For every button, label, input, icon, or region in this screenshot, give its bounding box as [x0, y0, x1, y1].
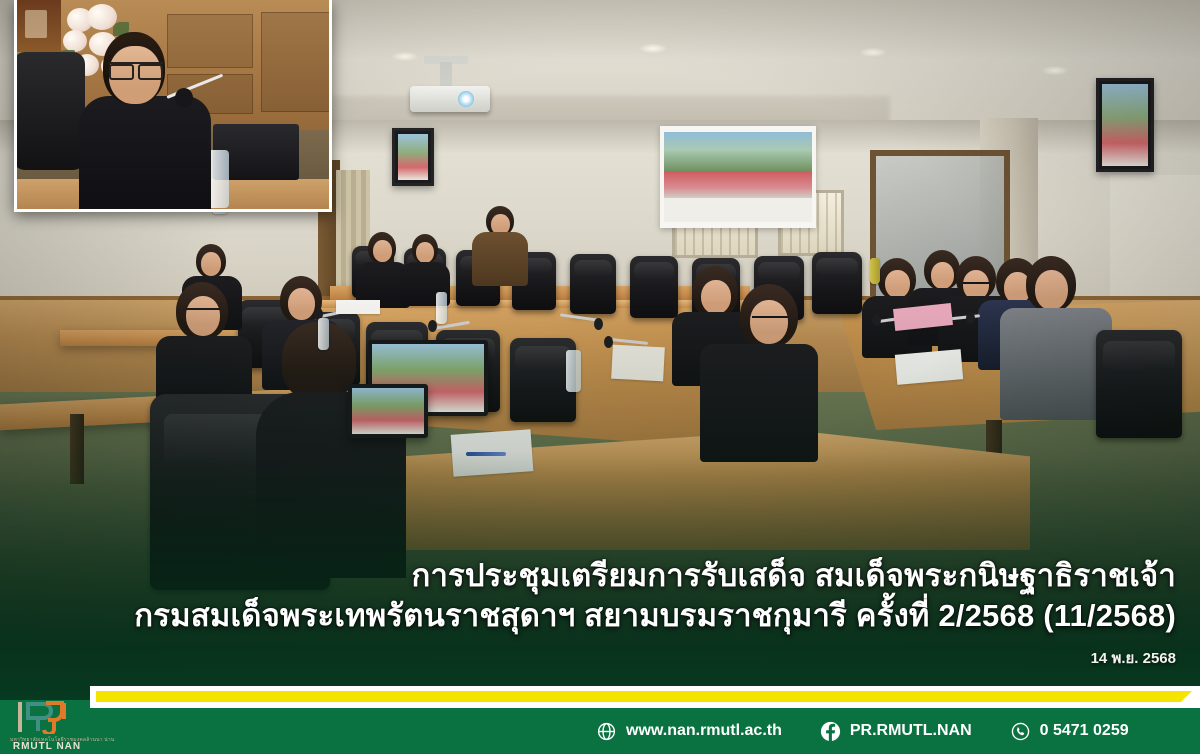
wall-panel — [167, 14, 253, 68]
title-block: การประชุมเตรียมการรับเสด็จ สมเด็จพระกนิษ… — [0, 556, 1176, 670]
inset-photo — [14, 0, 332, 212]
title-line-2: กรมสมเด็จพระเทพรัตนราชสุดาฯ สยามบรมราชกุ… — [0, 596, 1176, 636]
phone-icon — [1010, 721, 1031, 742]
rmutl-logo-mark — [16, 700, 74, 734]
title-line-1: การประชุมเตรียมการรับเสด็จ สมเด็จพระกนิษ… — [0, 556, 1176, 596]
wall-panel — [261, 12, 331, 112]
backdrop-banner — [17, 0, 61, 52]
footer-facebook[interactable]: PR.RMUTL.NAN — [820, 721, 972, 742]
accent-rule-yellow — [96, 691, 1192, 702]
rmutl-logo[interactable]: มหาวิทยาลัยเทคโนโลยีราชมงคลล้านนา น่าน R… — [10, 700, 84, 752]
rmutl-logo-name: RMUTL NAN — [10, 741, 84, 752]
footer-bar: www.nan.rmutl.ac.th PR.RMUTL.NAN — [0, 708, 1200, 754]
glasses-icon — [109, 62, 163, 74]
footer-website[interactable]: www.nan.rmutl.ac.th — [596, 721, 782, 742]
accent-rule — [0, 686, 1200, 708]
chair — [14, 52, 85, 170]
speaker-body — [79, 96, 211, 212]
poster-root: การประชุมเตรียมการรับเสด็จ สมเด็จพระกนิษ… — [0, 0, 1200, 754]
footer-phone[interactable]: 0 5471 0259 — [1010, 721, 1129, 742]
footer-phone-label: 0 5471 0259 — [1040, 722, 1129, 740]
footer-contact-list: www.nan.rmutl.ac.th PR.RMUTL.NAN — [596, 708, 1129, 754]
event-date: 14 พ.ย. 2568 — [0, 646, 1176, 670]
globe-icon — [596, 721, 617, 742]
footer-facebook-label: PR.RMUTL.NAN — [850, 722, 972, 740]
facebook-icon — [820, 721, 841, 742]
microphone-head — [175, 88, 193, 108]
footer-website-label: www.nan.rmutl.ac.th — [626, 722, 782, 740]
